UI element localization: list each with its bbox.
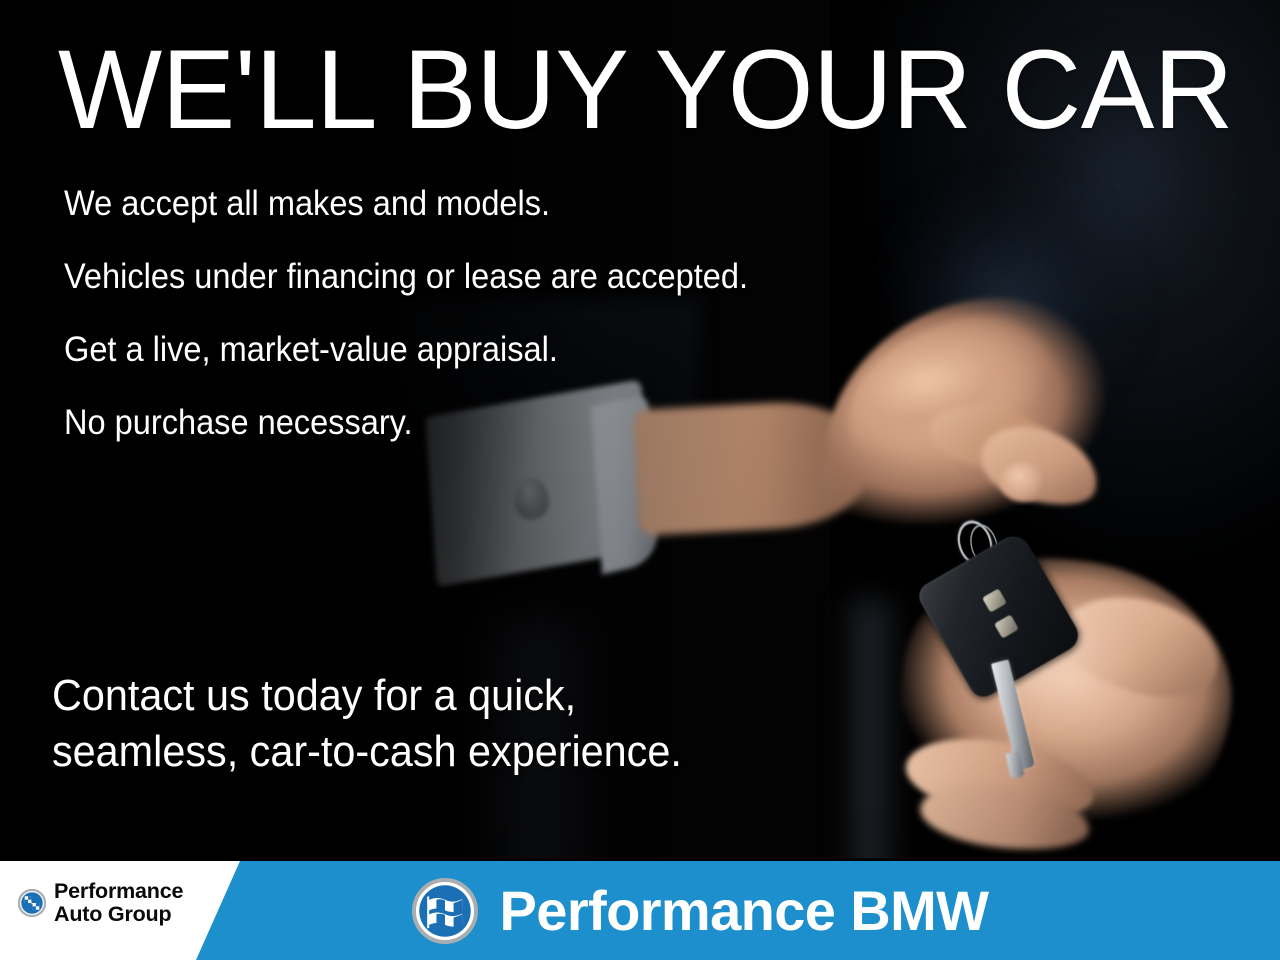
dealer-group-name: Performance Auto Group (54, 880, 183, 926)
benefit-item: We accept all makes and models. (64, 186, 901, 221)
benefit-item: Get a live, market-value appraisal. (64, 332, 901, 367)
dealer-group-name-line-1: Performance (54, 880, 183, 903)
brand-name: Performance BMW (500, 883, 989, 939)
cta-line-1: Contact us today for a quick, (52, 668, 879, 724)
dealer-group-name-line-2: Auto Group (54, 903, 183, 926)
call-to-action-text: Contact us today for a quick, seamless, … (52, 668, 879, 781)
dealer-group-lockup[interactable]: Performance Auto Group (18, 880, 183, 926)
cta-line-2: seamless, car-to-cash experience. (52, 724, 879, 780)
checkered-flag-badge-icon (412, 878, 478, 944)
benefit-item: No purchase necessary. (64, 405, 901, 440)
ad-headline: WE'LL BUY YOUR CAR (58, 34, 1233, 146)
checkered-flag-badge-icon (18, 889, 46, 917)
footer-bar: Performance BMW (0, 858, 1280, 960)
brand-lockup[interactable]: Performance BMW (0, 861, 1280, 960)
benefit-item: Vehicles under financing or lease are ac… (64, 259, 901, 294)
advertisement-banner: WE'LL BUY YOUR CAR We accept all makes a… (0, 0, 1280, 960)
ad-benefits-list: We accept all makes and models. Vehicles… (64, 186, 964, 440)
ad-copy: WE'LL BUY YOUR CAR We accept all makes a… (0, 0, 1280, 960)
